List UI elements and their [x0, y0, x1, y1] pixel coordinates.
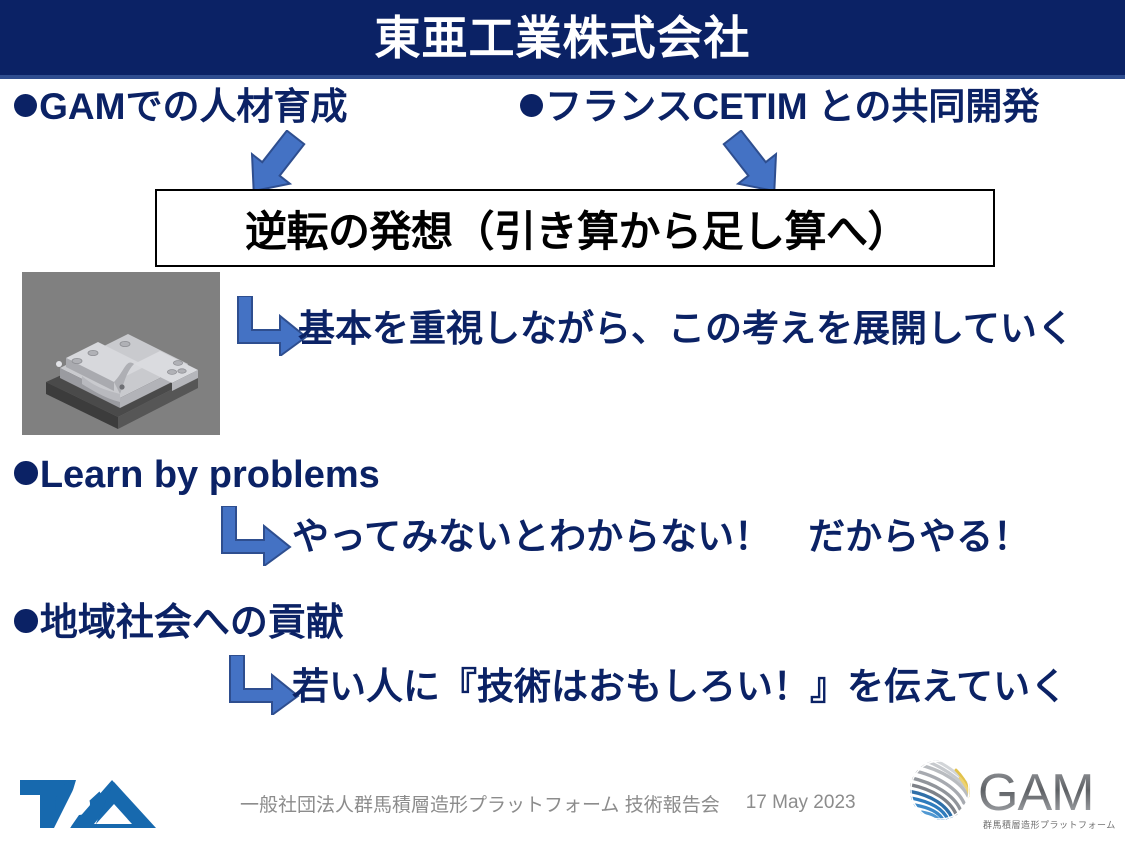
- title-bar-underline: [0, 75, 1125, 79]
- bullet-heading-gam: GAMでの人材育成: [14, 88, 347, 127]
- slide-canvas: 東亜工業株式会社 GAMでの人材育成 フランスCETIM との共同開発 逆転の発…: [0, 0, 1125, 844]
- globe-swirl-icon: [907, 759, 971, 822]
- page-title: 東亜工業株式会社: [0, 8, 1125, 68]
- toa-logo-icon: [18, 778, 158, 830]
- sub-statement-2: やってみないとわからない！ だからやる！: [292, 518, 1030, 557]
- bullet-dot-icon: [14, 94, 37, 117]
- gam-logo-subtitle: 群馬積層造形プラットフォーム: [983, 818, 1113, 831]
- sub-statement-3: 若い人に『技術はおもしろい！』を伝えていく: [292, 668, 1067, 707]
- bullet-heading-gam-label: GAMでの人材育成: [39, 86, 347, 127]
- bullet-heading-learn-label: Learn by problems: [40, 454, 380, 496]
- bullet-dot-icon: [14, 609, 38, 633]
- bullet-heading-region: 地域社会への貢献: [14, 604, 344, 644]
- key-statement-box: 逆転の発想（引き算から足し算へ）: [155, 189, 995, 267]
- footer-text-group: 一般社団法人群馬積層造形プラットフォーム 技術報告会 17 May 2023 4: [240, 790, 924, 816]
- footer-date: 17 May 2023: [746, 792, 856, 814]
- bullet-dot-icon: [14, 461, 38, 485]
- elbow-arrow-icon: [228, 655, 300, 715]
- bullet-heading-learn: Learn by problems: [14, 456, 380, 496]
- key-statement-text: 逆転の発想（引き算から足し算へ）: [157, 191, 997, 265]
- bullet-dot-icon: [520, 94, 543, 117]
- footer-organization: 一般社団法人群馬積層造形プラットフォーム 技術報告会: [240, 790, 720, 817]
- elbow-arrow-icon: [220, 506, 292, 566]
- cad-render-graphic: [22, 272, 220, 435]
- bullet-heading-cetim: フランスCETIM との共同開発: [520, 88, 1039, 127]
- gam-wordmark-text: GAM: [978, 764, 1093, 822]
- bullet-heading-cetim-label: フランスCETIM との共同開発: [545, 86, 1039, 127]
- sub-statement-1: 基本を重視しながら、この考えを展開していく: [298, 310, 1074, 349]
- cad-render-image: [22, 272, 220, 435]
- bullet-heading-region-label: 地域社会への貢献: [40, 602, 344, 644]
